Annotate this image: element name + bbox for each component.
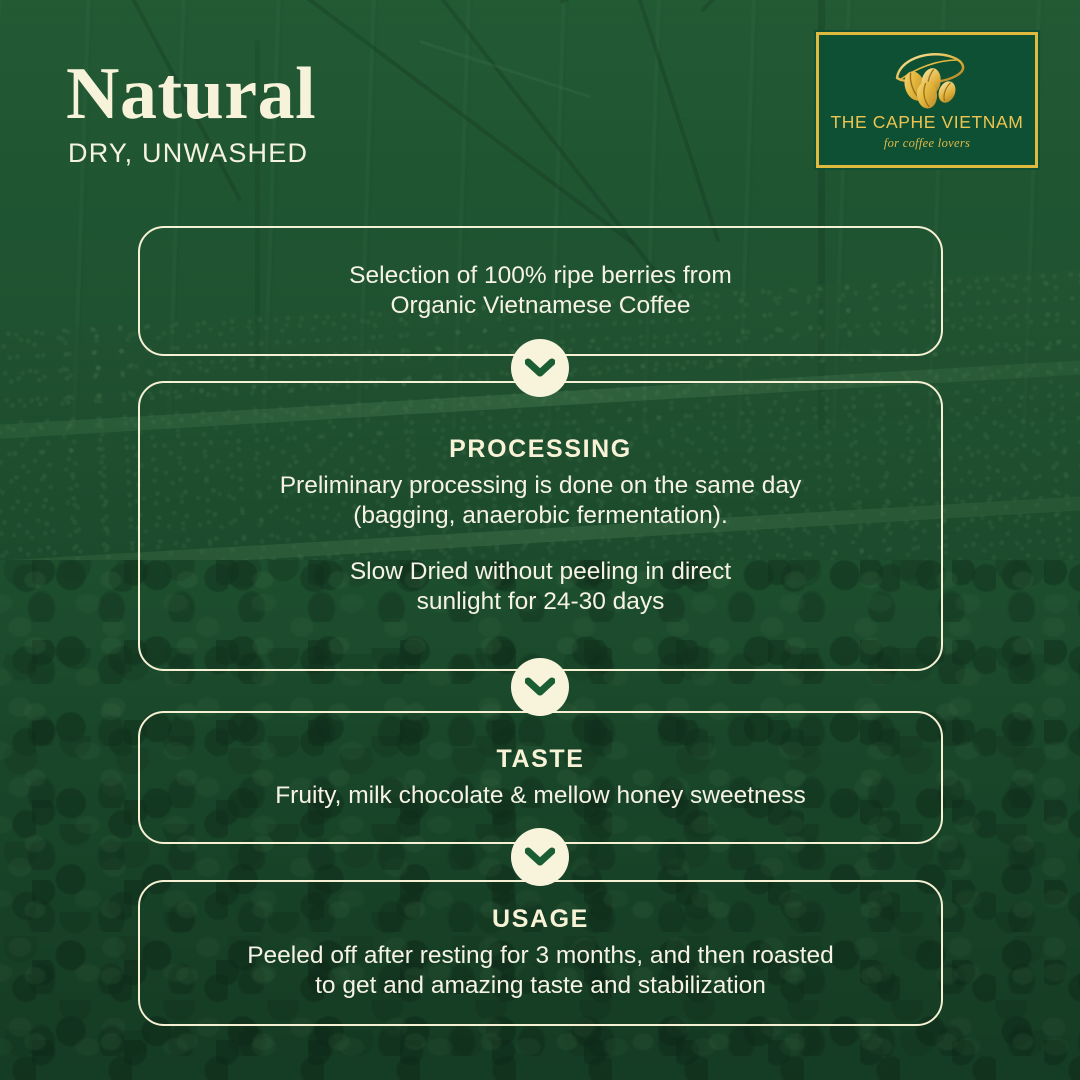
chevron-down-glyph xyxy=(525,847,555,867)
flow-step-text: Fruity, milk chocolate & mellow honey sw… xyxy=(275,781,806,811)
chevron-down-icon xyxy=(511,828,569,886)
flow-step-text: Preliminary processing is done on the sa… xyxy=(280,471,802,531)
flow-step-taste: TASTE Fruity, milk chocolate & mellow ho… xyxy=(138,711,943,844)
flow-step-selection: Selection of 100% ripe berries from Orga… xyxy=(138,226,943,356)
brand-logo[interactable]: THE CAPHE VIETNAM for coffee lovers xyxy=(816,32,1038,168)
poster-header: Natural DRY, UNWASHED xyxy=(0,0,1080,200)
page-subtitle: DRY, UNWASHED xyxy=(68,138,308,169)
flow-step-text: Peeled off after resting for 3 months, a… xyxy=(247,941,834,1001)
flow-step-text: Selection of 100% ripe berries from Orga… xyxy=(349,261,732,321)
flow-step-heading: USAGE xyxy=(492,905,589,934)
chevron-down-icon xyxy=(511,658,569,716)
coffee-bean-cluster-with-leaf-icon xyxy=(871,48,983,110)
flow-step-usage: USAGE Peeled off after resting for 3 mon… xyxy=(138,880,943,1026)
logo-tagline: for coffee lovers xyxy=(884,136,970,151)
page-title: Natural xyxy=(66,52,316,136)
chevron-down-icon xyxy=(511,339,569,397)
logo-brand-name: THE CAPHE VIETNAM xyxy=(830,112,1023,133)
flow-step-heading: TASTE xyxy=(496,745,584,774)
flow-step-heading: PROCESSING xyxy=(449,435,632,464)
chevron-down-glyph xyxy=(525,358,555,378)
flow-step-processing: PROCESSING Preliminary processing is don… xyxy=(138,381,943,671)
flow-step-text-secondary: Slow Dried without peeling in direct sun… xyxy=(350,557,731,617)
infographic-poster: Natural DRY, UNWASHED xyxy=(0,0,1080,1080)
chevron-down-glyph xyxy=(525,677,555,697)
